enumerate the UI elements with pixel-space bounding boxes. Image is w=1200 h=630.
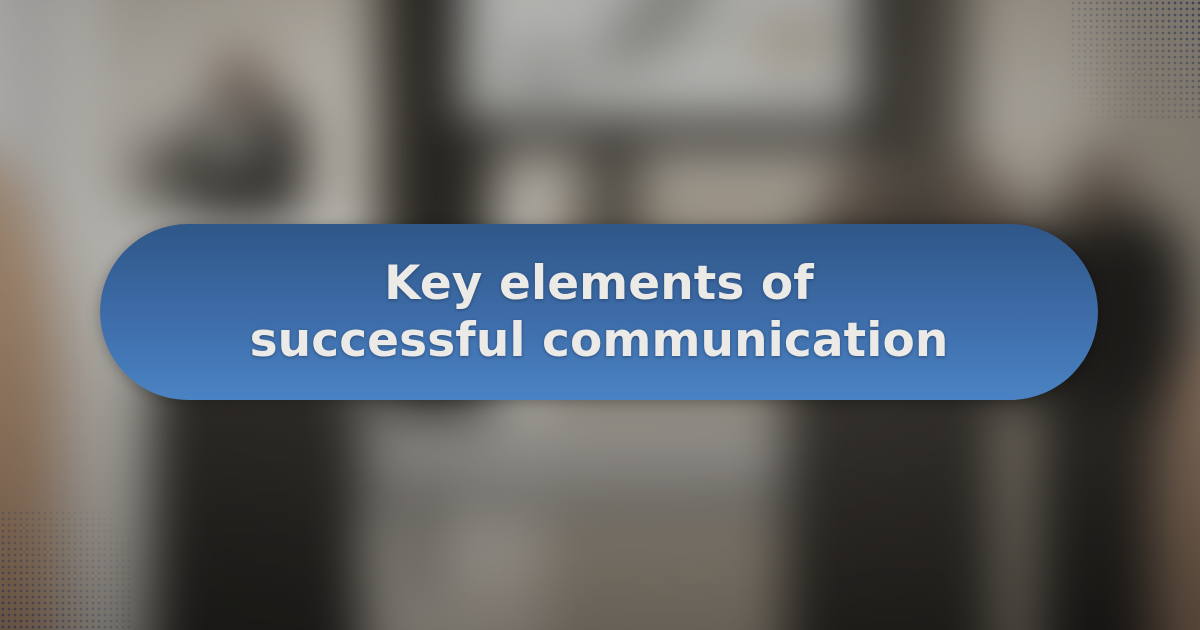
halftone-pattern-top-right xyxy=(1070,0,1200,120)
page-title: Key elements of successful communication xyxy=(216,255,983,370)
title-pill: Key elements of successful communication xyxy=(100,224,1098,400)
social-share-card: Key elements of successful communication xyxy=(0,0,1200,630)
halftone-pattern-bottom-left xyxy=(0,510,130,630)
